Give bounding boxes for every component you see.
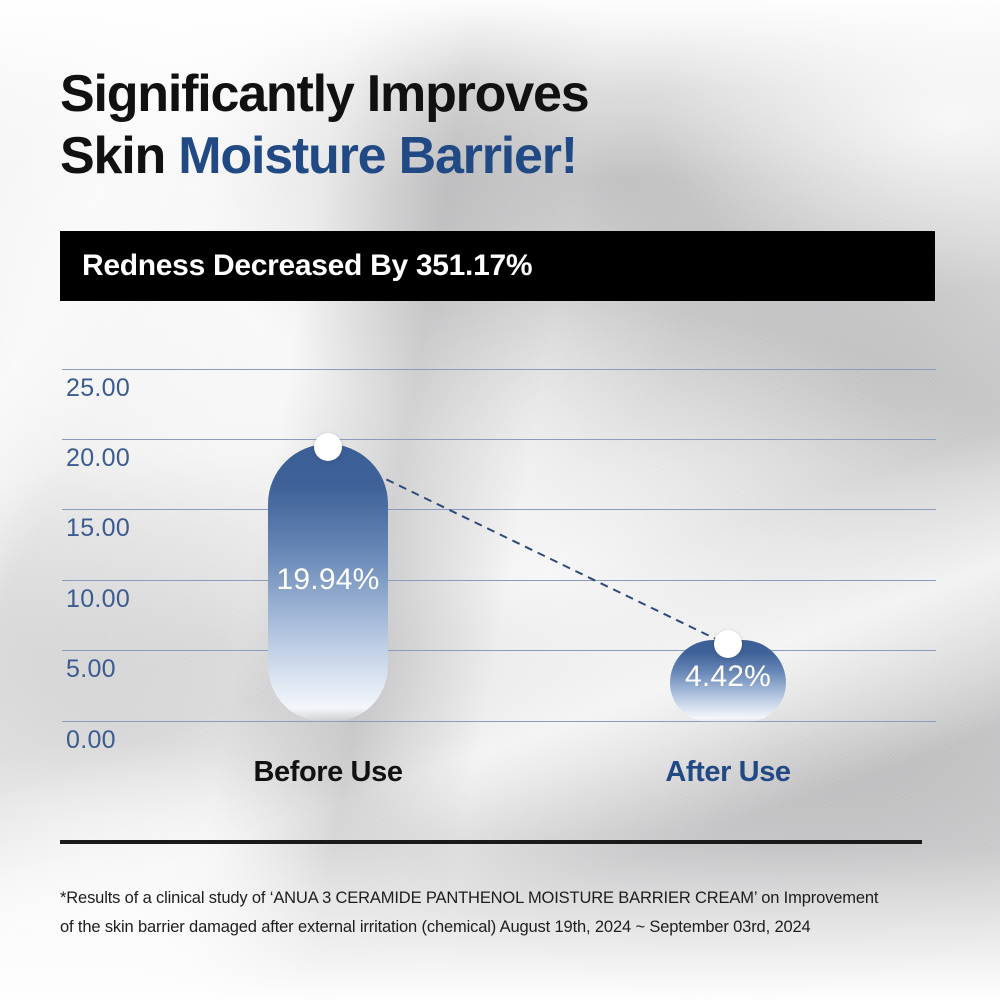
gridline-5	[62, 650, 936, 651]
footnote-line-2: of the skin barrier damaged after extern…	[60, 913, 950, 942]
marker-before-use	[314, 433, 342, 461]
gridline-0	[62, 721, 936, 722]
footnote: *Results of a clinical study of ‘ANUA 3 …	[60, 884, 950, 942]
bar-before-use: 19.94%	[268, 444, 388, 722]
section-divider	[60, 840, 922, 844]
trend-connector-line	[0, 0, 1000, 1000]
gridline-10	[62, 580, 936, 581]
bar-after-use-value: 4.42%	[670, 660, 786, 694]
y-axis-tick-0: 0.00	[66, 726, 116, 755]
y-axis-tick-15: 15.00	[66, 514, 130, 543]
y-axis-tick-10: 10.00	[66, 585, 130, 614]
x-axis-label-before-use: Before Use	[208, 756, 448, 789]
marker-after-use	[714, 630, 742, 658]
gridline-20	[62, 439, 936, 440]
poster-root: Significantly Improves Skin Moisture Bar…	[0, 0, 1000, 1000]
bar-before-use-value: 19.94%	[268, 563, 388, 597]
y-axis-tick-5: 5.00	[66, 655, 116, 684]
gridline-15	[62, 509, 936, 510]
y-axis-tick-25: 25.00	[66, 374, 130, 403]
y-axis-tick-20: 20.00	[66, 444, 130, 473]
x-axis-label-after-use: After Use	[608, 756, 848, 789]
bar-chart: 25.00 20.00 15.00 10.00 5.00 0.00 19.94%…	[0, 0, 1000, 1000]
footnote-line-1: *Results of a clinical study of ‘ANUA 3 …	[60, 884, 950, 913]
gridline-25	[62, 369, 936, 370]
